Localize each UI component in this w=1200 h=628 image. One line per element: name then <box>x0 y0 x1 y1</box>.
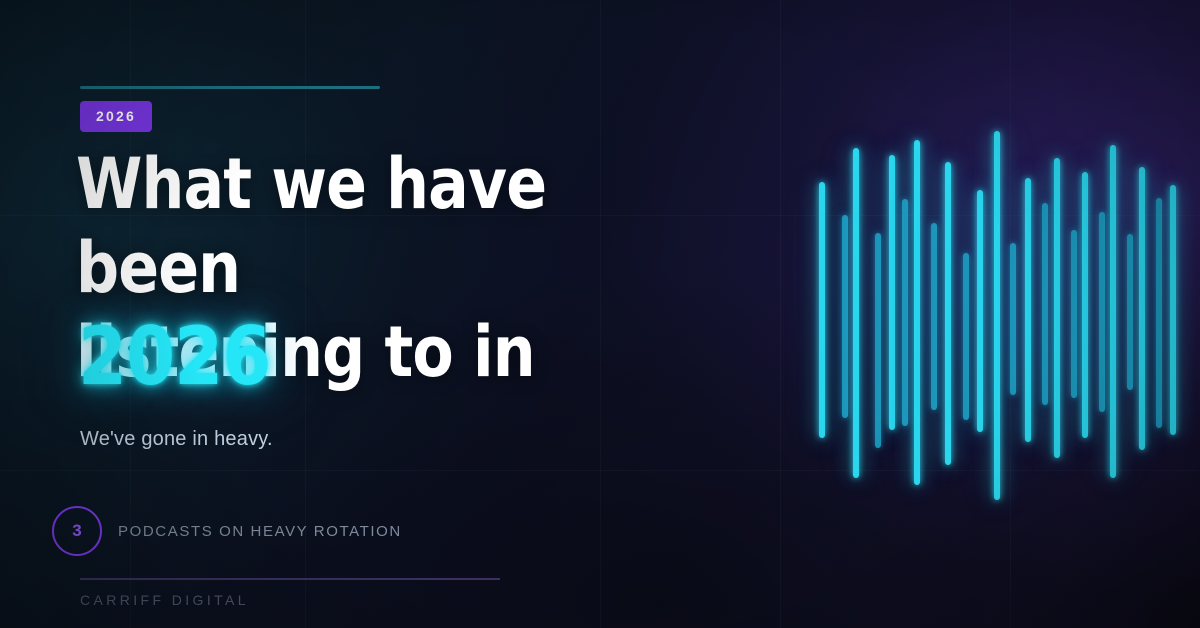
headline-line-1: What we have been <box>76 142 712 310</box>
waveform-bar <box>875 233 881 448</box>
waveform-bar <box>914 140 920 485</box>
waveform-bar <box>994 131 1000 500</box>
waveform-bar <box>1099 212 1105 412</box>
waveform-bar <box>1042 203 1048 405</box>
stat-label: PODCASTS ON HEAVY ROTATION <box>118 523 402 540</box>
waveform-bar <box>1071 230 1077 398</box>
waveform-bar <box>1082 172 1088 438</box>
waveform-bar <box>1156 198 1162 428</box>
year-badge: 2026 <box>80 101 152 132</box>
waveform-bar <box>1139 167 1145 450</box>
waveform-bar <box>1127 234 1133 390</box>
waveform-bar <box>1110 145 1116 478</box>
waveform-bar <box>842 215 848 418</box>
headline-year-glow: 2026 <box>78 311 270 403</box>
waveform-bar <box>1010 243 1016 395</box>
subtitle: We've gone in heavy. <box>80 428 273 451</box>
slide-canvas: 2026 What we have been listening to in 2… <box>0 0 1200 628</box>
waveform-bar <box>945 162 951 465</box>
waveform-bar <box>963 253 969 420</box>
stat-count-circle: 3 <box>52 506 102 556</box>
waveform-bar <box>1170 185 1176 435</box>
waveform-bar <box>931 223 937 410</box>
footer-brand: CARRIFF DIGITAL <box>80 592 249 608</box>
waveform-bar <box>1054 158 1060 458</box>
waveform-bar <box>889 155 895 430</box>
waveform-bar <box>902 199 908 426</box>
content-column: 2026 What we have been listening to in 2… <box>80 0 800 628</box>
stat-row: 3 PODCASTS ON HEAVY ROTATION <box>52 506 402 556</box>
audio-waveform-graphic <box>805 0 1195 628</box>
waveform-bar <box>1025 178 1031 442</box>
top-accent-rule <box>80 86 380 89</box>
waveform-bar <box>977 190 983 432</box>
footer-rule <box>80 578 500 580</box>
waveform-bar <box>819 182 825 438</box>
waveform-bar <box>853 148 859 478</box>
